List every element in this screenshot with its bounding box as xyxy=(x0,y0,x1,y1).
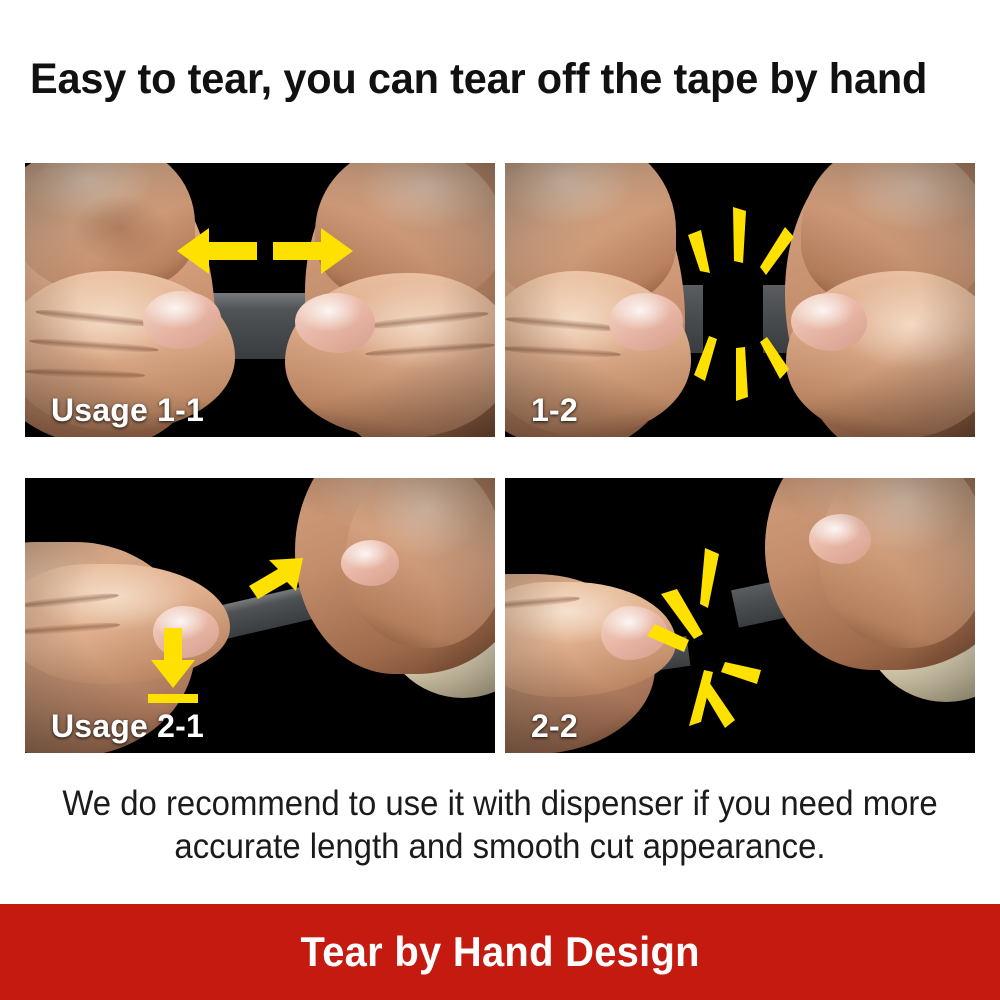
burst-spike-bottom-left xyxy=(694,336,717,381)
press-surface-bar xyxy=(148,694,198,703)
recommendation-text: We do recommend to use it with dispenser… xyxy=(58,782,942,868)
panel-usage-2-2: 2-2 xyxy=(505,478,975,753)
arrow-down-icon xyxy=(151,628,195,688)
burst-spike-top-left xyxy=(688,230,710,273)
pull-apart-arrows xyxy=(175,221,355,281)
burst-spike-bottom-right xyxy=(760,337,789,379)
panel-usage-2-1: Usage 2-1 xyxy=(25,478,495,753)
recommendation-line-1: We do recommend to use it with dispenser… xyxy=(58,782,942,825)
burst-spike-top-center xyxy=(700,548,719,608)
footer-banner: Tear by Hand Design xyxy=(0,904,1000,1000)
footer-banner-text: Tear by Hand Design xyxy=(300,928,699,976)
panel-usage-1-1: Usage 1-1 xyxy=(25,163,495,437)
press-down-arrow-group xyxy=(145,626,201,710)
panel-label-usage-1-2: 1-2 xyxy=(531,391,578,429)
arrow-right-icon xyxy=(273,228,353,274)
burst-spike-bottom-center xyxy=(701,682,735,728)
burst-spike-bottom-right xyxy=(721,662,761,684)
tear-burst-icon xyxy=(639,542,769,732)
panel-usage-1-2: 1-2 xyxy=(505,163,975,437)
panel-label-usage-2-1: Usage 2-1 xyxy=(51,707,204,745)
right-finger-nail xyxy=(809,514,871,564)
instruction-panel-grid: Usage 1-1 xyxy=(25,163,975,753)
recommendation-line-2: accurate length and smooth cut appearanc… xyxy=(58,825,942,868)
panel-label-usage-1-1: Usage 1-1 xyxy=(51,391,204,429)
arrow-left-icon xyxy=(177,228,257,274)
right-finger-nail xyxy=(341,540,399,586)
burst-spike-bottom-center xyxy=(736,347,748,401)
burst-spike-top-right xyxy=(760,227,794,275)
burst-spike-top-right xyxy=(647,624,689,652)
left-knuckle xyxy=(65,193,175,273)
tear-burst-icon xyxy=(681,199,799,409)
page-title: Easy to tear, you can tear off the tape … xyxy=(30,50,942,108)
pull-direction-arrow xyxy=(247,556,305,602)
arrow-up-right-icon xyxy=(249,558,303,599)
burst-spike-top-center xyxy=(733,207,746,263)
panel-label-usage-2-2: 2-2 xyxy=(531,707,578,745)
